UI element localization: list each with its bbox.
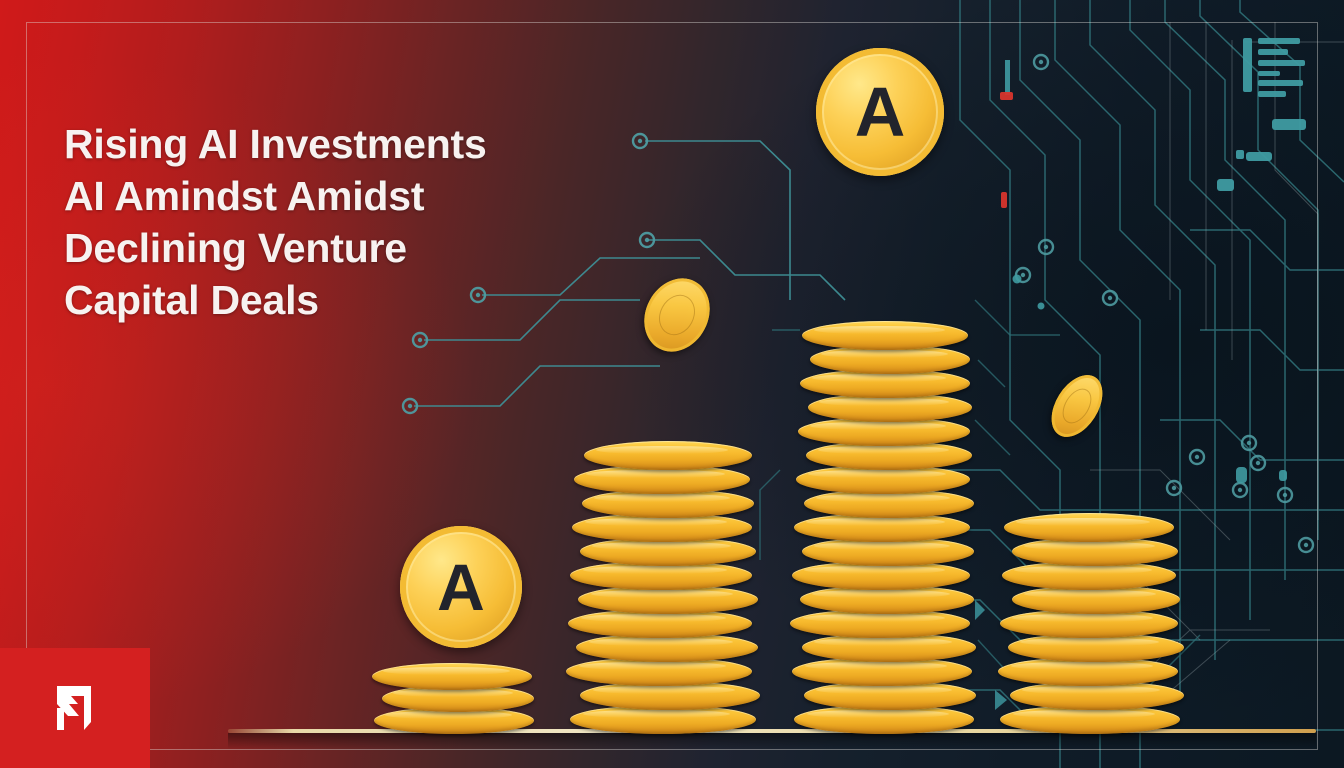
coin [802, 321, 968, 350]
coin [1004, 513, 1174, 542]
coin-letter: A [855, 77, 906, 147]
coin-stack-2 [566, 364, 766, 734]
coin-stack-3 [790, 214, 980, 734]
coin [584, 441, 752, 470]
coin-letter: A [437, 554, 485, 620]
title-line-1: Rising AI Investments [64, 118, 584, 170]
title-line-4: Capital Deals [64, 274, 584, 326]
logo-r-icon [51, 682, 99, 734]
ground-shadow [228, 733, 1316, 749]
title-line-2: AI Amindst Amidst [64, 170, 584, 222]
brand-logo[interactable] [0, 648, 150, 768]
page-title: Rising AI Investments AI Amindst Amidst … [64, 118, 584, 326]
title-line-3: Declining Venture [64, 222, 584, 274]
coin-face-a-left: A [400, 526, 522, 648]
coin-face-a-top: A [816, 48, 944, 176]
coin-stack-4 [996, 454, 1186, 734]
poster-canvas: A A [0, 0, 1344, 768]
coin [372, 663, 532, 690]
